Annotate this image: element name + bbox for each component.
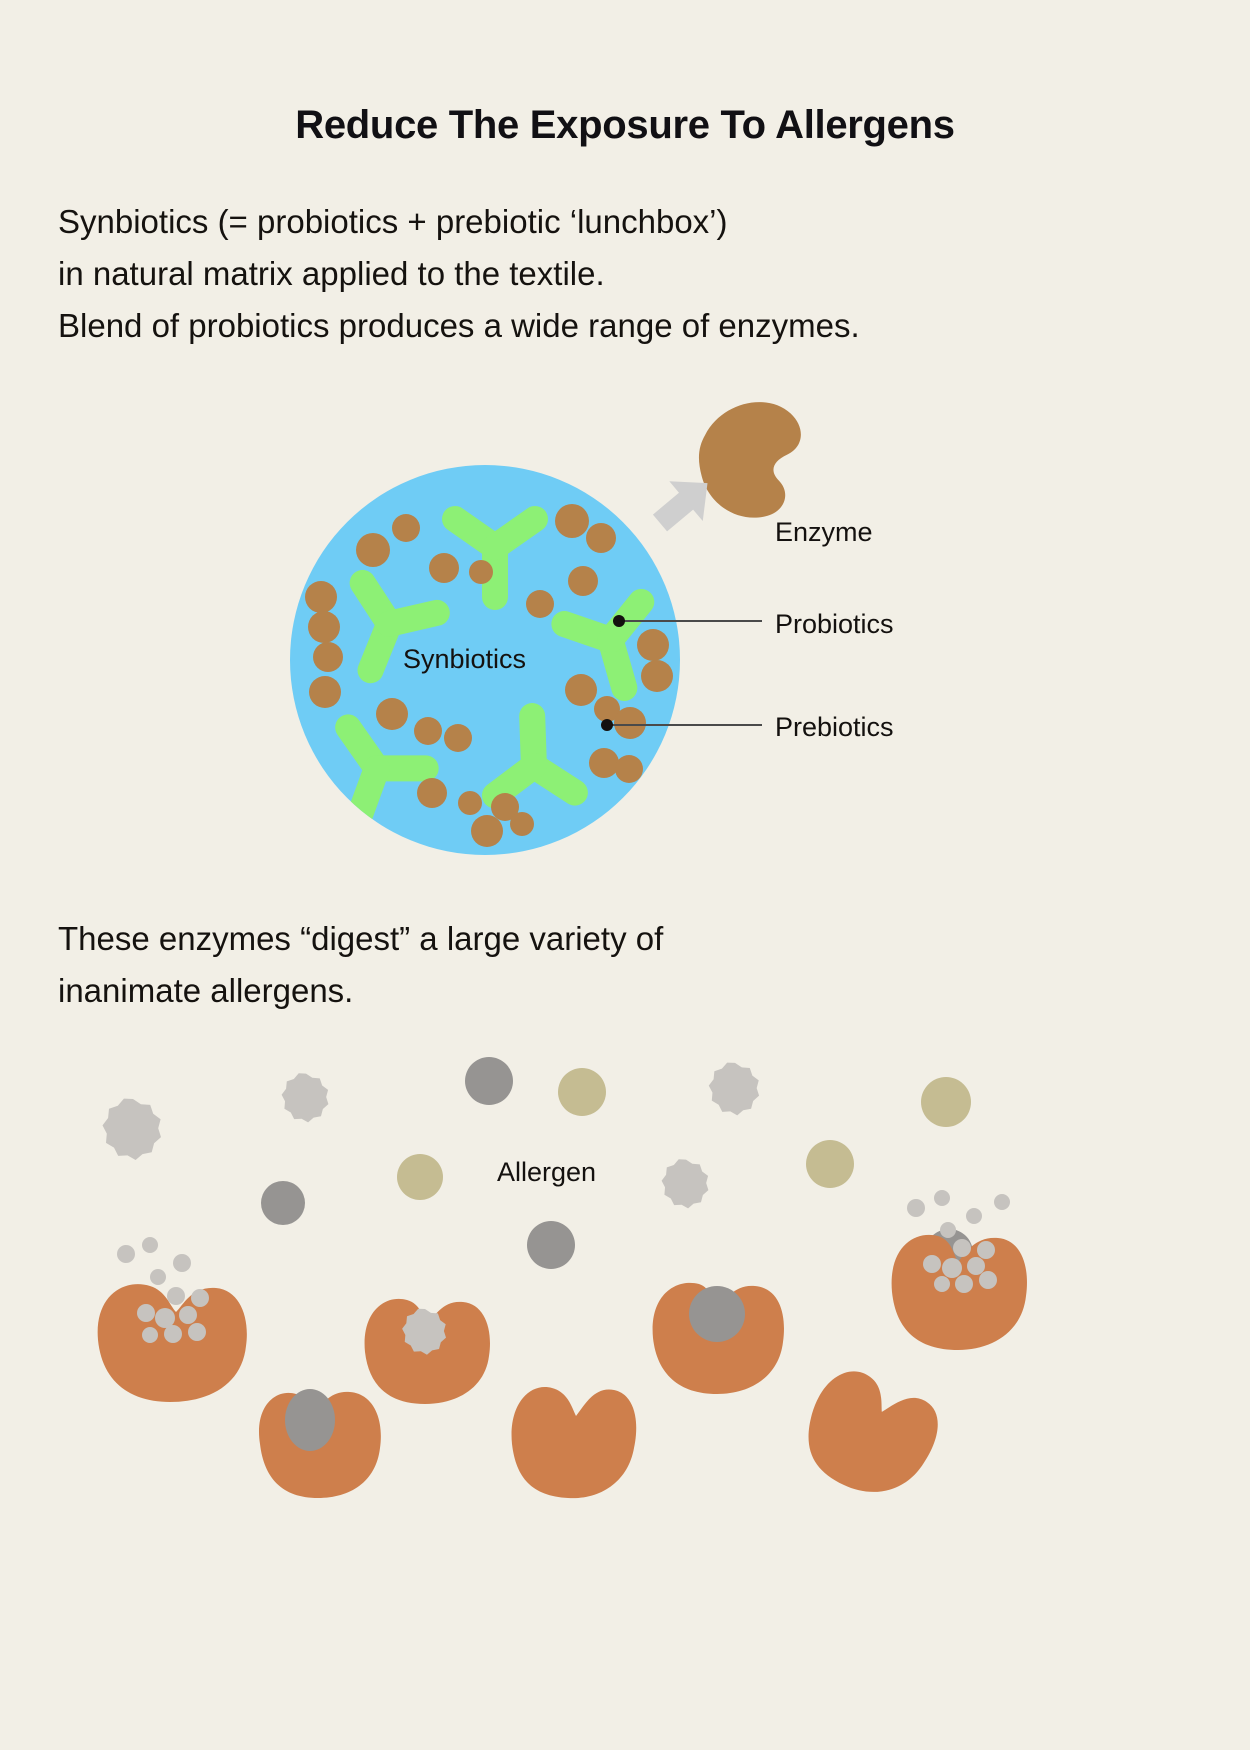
allergen-circle — [261, 1181, 305, 1225]
prebiotic-dot-cluster — [305, 504, 673, 847]
leader-line-probiotics — [613, 615, 762, 627]
enzyme-shape-top — [684, 390, 822, 532]
leader-line-prebiotics — [601, 719, 762, 731]
allergen-circle — [689, 1286, 745, 1342]
arrow-icon — [643, 463, 724, 543]
mid-line-2: inanimate allergens. — [58, 965, 1058, 1017]
label-prebiotics: Prebiotics — [775, 712, 894, 743]
allergen-circle — [925, 1229, 973, 1277]
bubble-contents — [305, 504, 673, 847]
probiotic-y-icon — [564, 602, 662, 699]
digested-crumbs — [907, 1190, 1010, 1293]
allergen-scallop — [402, 1309, 446, 1355]
enzyme-shape-bottom — [653, 1283, 784, 1394]
allergen-circle — [397, 1154, 443, 1200]
probiotic-y-icon — [315, 704, 425, 814]
intro-line-3: Blend of probiotics produces a wide rang… — [58, 300, 1168, 352]
page-title: Reduce The Exposure To Allergens — [0, 103, 1250, 148]
label-enzyme: Enzyme — [775, 517, 873, 548]
mid-line-1: These enzymes “digest” a large variety o… — [58, 913, 1058, 965]
allergen-circle — [465, 1057, 513, 1105]
enzyme-shape-bottom — [259, 1389, 381, 1498]
allergen-circle — [285, 1389, 335, 1451]
enzyme-shape-bottom — [98, 1237, 247, 1402]
intro-line-1: Synbiotics (= probiotics + prebiotic ‘lu… — [58, 196, 1168, 248]
intro-paragraph: Synbiotics (= probiotics + prebiotic ‘lu… — [58, 196, 1168, 352]
probiotic-y-icon — [492, 715, 575, 796]
label-allergen: Allergen — [497, 1157, 596, 1188]
allergen-scallop — [282, 1073, 329, 1122]
enzyme-shape-bottom — [365, 1299, 490, 1404]
digested-crumbs — [117, 1237, 209, 1343]
allergen-scallop — [103, 1099, 162, 1160]
probiotic-y-icon — [455, 519, 535, 597]
enzyme-shape-bottom — [512, 1387, 637, 1498]
label-synbiotics: Synbiotics — [403, 644, 526, 675]
allergen-circle — [921, 1077, 971, 1127]
mid-paragraph: These enzymes “digest” a large variety o… — [58, 913, 1058, 1017]
enzyme-shape-bottom — [892, 1190, 1027, 1350]
allergen-circle — [527, 1221, 575, 1269]
allergen-scallop — [662, 1159, 709, 1208]
allergen-circle — [806, 1140, 854, 1188]
infographic-page: Reduce The Exposure To Allergens Synbiot… — [0, 0, 1250, 1750]
label-probiotics: Probiotics — [775, 609, 894, 640]
intro-line-2: in natural matrix applied to the textile… — [58, 248, 1168, 300]
enzyme-shape-bottom — [791, 1361, 948, 1511]
allergen-scallop — [709, 1063, 759, 1116]
allergen-circle — [558, 1068, 606, 1116]
